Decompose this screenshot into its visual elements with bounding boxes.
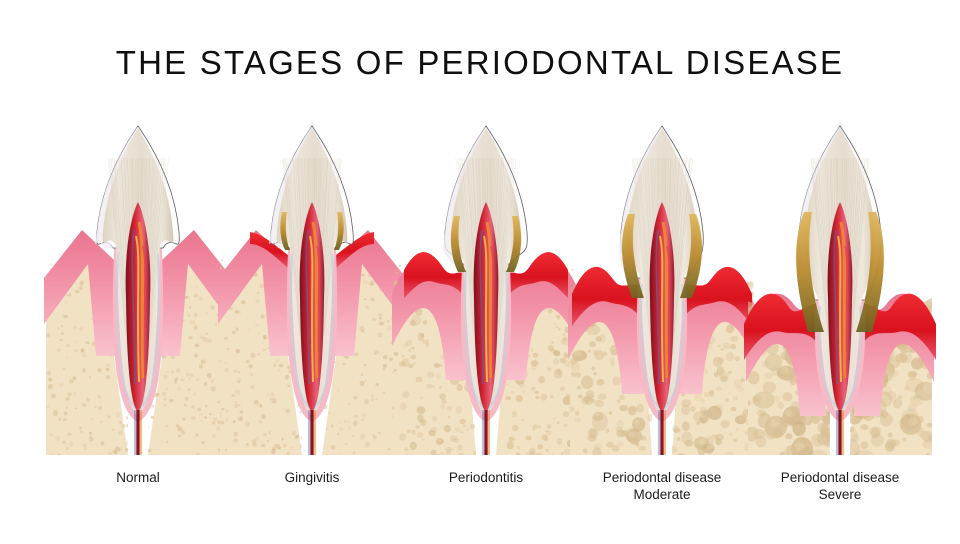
stage-label-line: Severe [730,487,950,504]
tooth-diagram-gingivitis [216,118,408,463]
tooth-diagram-periodontal-disease-moderate [566,118,758,463]
stage-label-periodontal-disease-severe: Periodontal diseaseSevere [730,470,950,503]
tooth-diagram-periodontitis [390,118,582,463]
stage-label-line: Periodontal disease [730,470,950,487]
tooth-diagram-periodontal-disease-severe [744,118,936,463]
stage-periodontitis: Periodontitis [390,118,582,518]
stage-gingivitis: Gingivitis [216,118,408,518]
tooth-diagram-normal [42,118,234,463]
page-title: THE STAGES OF PERIODONTAL DISEASE [0,44,960,82]
stage-normal: Normal [42,118,234,518]
stage-periodontal-disease-moderate: Periodontal diseaseModerate [566,118,758,518]
stage-periodontal-disease-severe: Periodontal diseaseSevere [744,118,936,518]
